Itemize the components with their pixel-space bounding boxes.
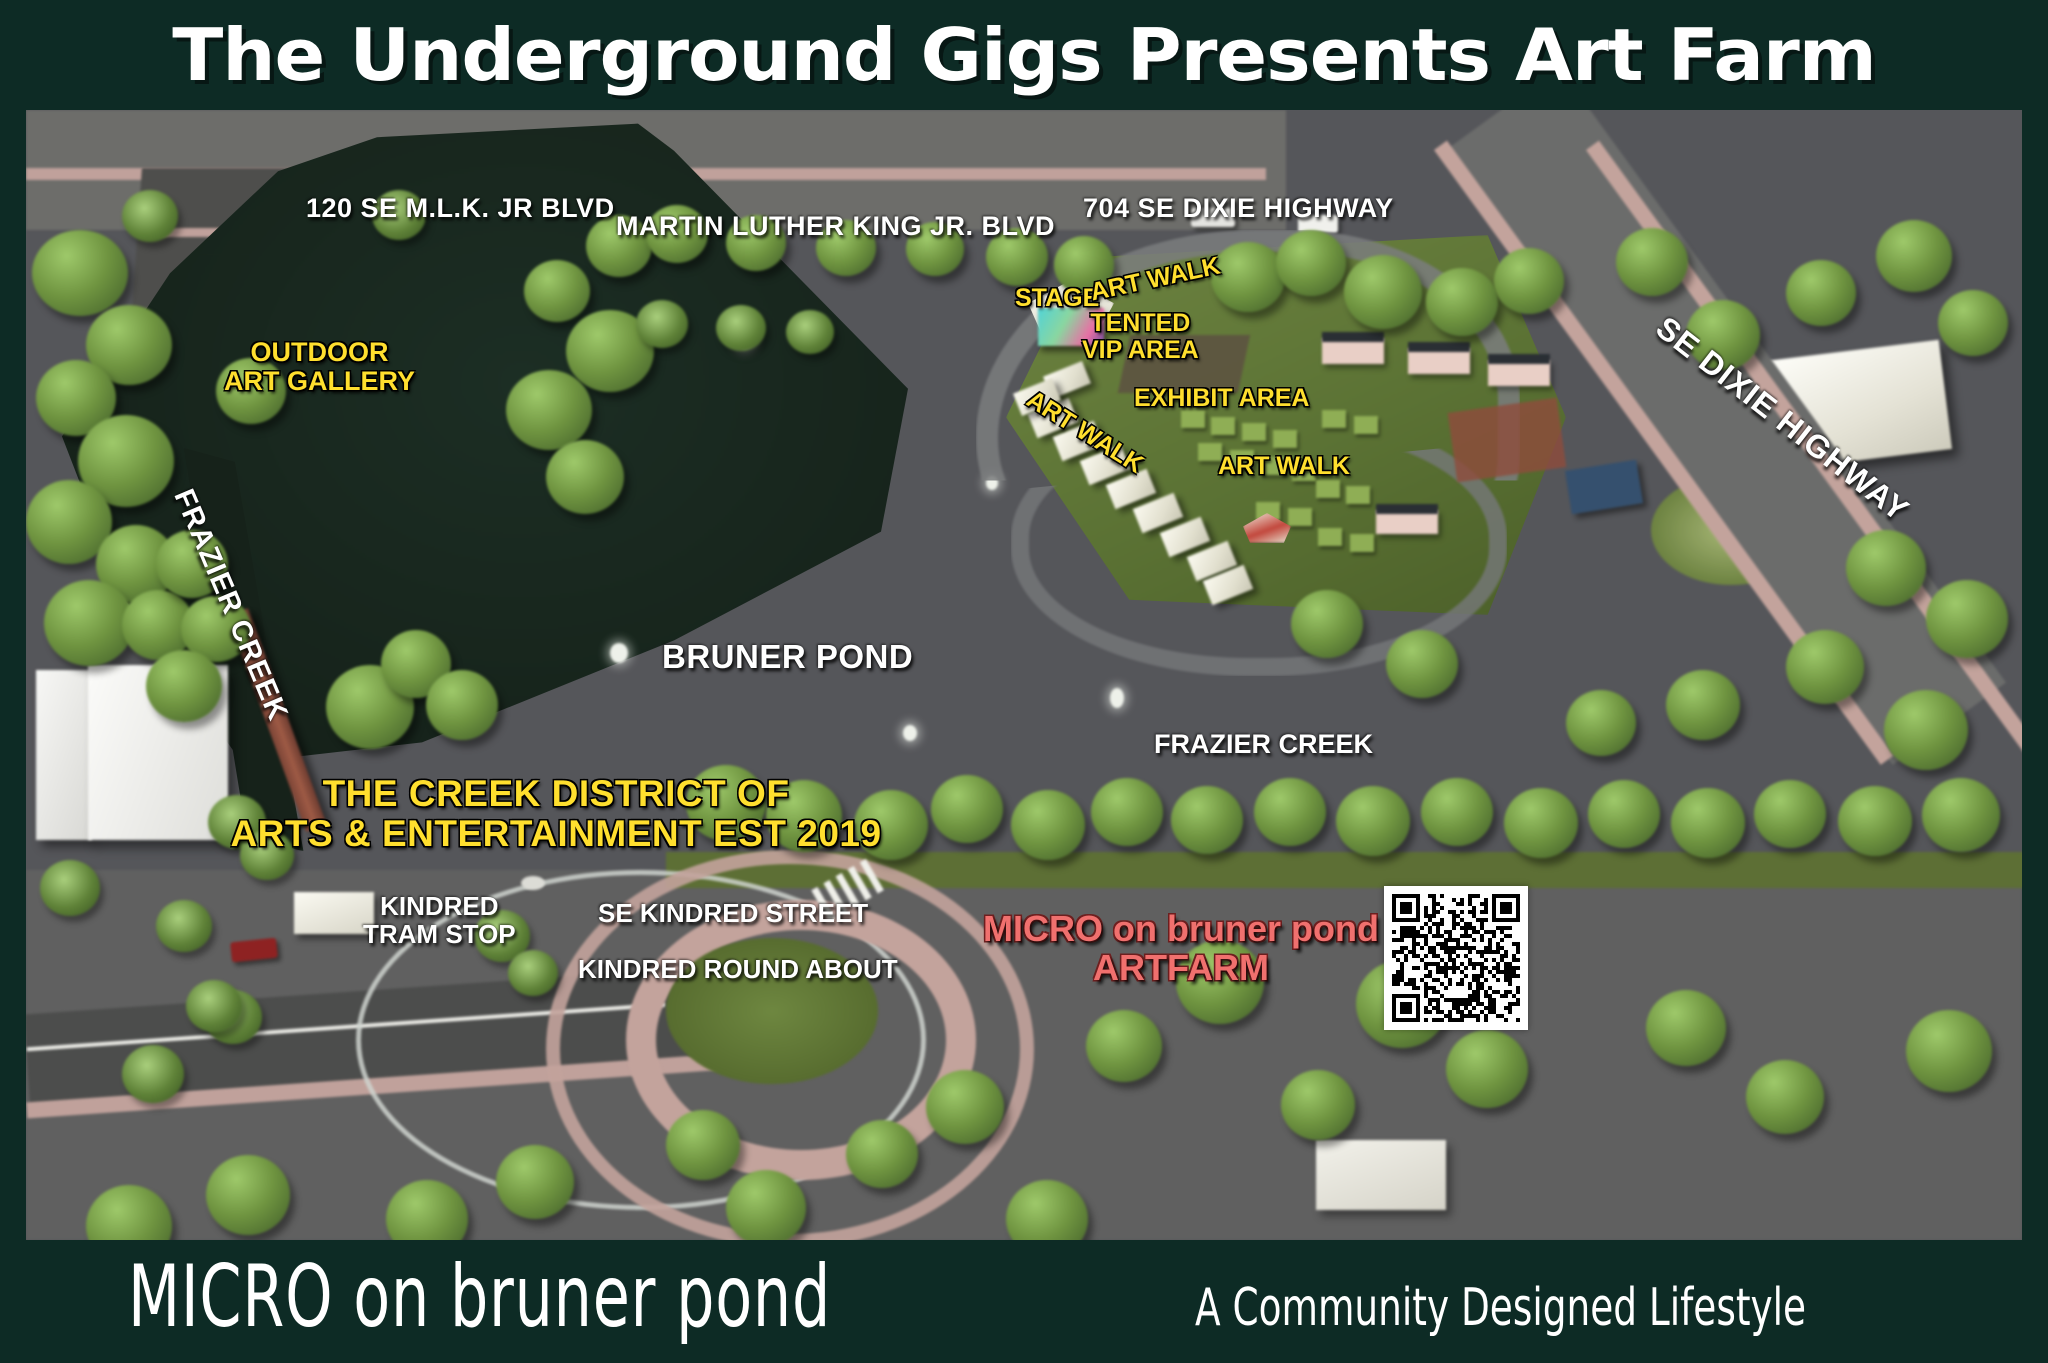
tree	[726, 1170, 806, 1240]
street-lamp	[521, 876, 545, 890]
vendor-booth-roof	[1488, 354, 1550, 364]
tree	[506, 370, 592, 450]
exhibit-stall	[1350, 534, 1374, 552]
palm-tree	[156, 900, 212, 952]
page-title: The Underground Gigs Presents Art Farm	[172, 19, 1875, 91]
map-label-se-kindred-street: SE KINDRED STREET	[598, 899, 868, 927]
tree	[1754, 780, 1826, 848]
qr-code[interactable]	[1384, 886, 1528, 1030]
tree	[846, 1120, 918, 1188]
tree	[524, 260, 590, 322]
fountain	[610, 643, 628, 663]
map-label-creek-district: THE CREEK DISTRICT OF ARTS & ENTERTAINME…	[230, 774, 881, 854]
tree	[1276, 230, 1346, 296]
tree	[1086, 1010, 1162, 1082]
map-label-tented-vip-area: TENTED VIP AREA	[1082, 310, 1199, 364]
poster-root: The Underground Gigs Presents Art Farm	[0, 0, 2048, 1363]
poster-header: The Underground Gigs Presents Art Farm	[0, 0, 2048, 110]
poster-footer: MICRO on bruner pond A Community Designe…	[0, 1240, 2048, 1363]
tree	[206, 1155, 290, 1235]
map-label-art-walk-low: ART WALK	[1218, 453, 1350, 480]
palm-tree	[122, 190, 178, 242]
tree	[1171, 786, 1243, 854]
palm-tree	[40, 860, 100, 916]
map-label-bruner-pond: BRUNER POND	[662, 639, 913, 675]
tree	[44, 580, 134, 666]
tree	[1254, 778, 1326, 846]
exhibit-stall	[1316, 480, 1340, 498]
brand-wordmark: MICRO on bruner pond	[128, 1254, 831, 1340]
exhibit-stall	[1322, 410, 1346, 428]
tree	[1922, 778, 2000, 852]
vendor-booth-roof	[1376, 504, 1438, 514]
tree	[1666, 670, 1740, 740]
qr-code-canvas	[1392, 894, 1520, 1022]
palm-tree	[716, 305, 766, 351]
aerial-site-map: 120 SE M.L.K. JR BLVD MARTIN LUTHER KING…	[26, 110, 2022, 1240]
tree	[931, 775, 1003, 843]
tree	[1504, 788, 1578, 858]
palm-tree	[122, 1045, 184, 1103]
exhibit-stall	[1346, 486, 1370, 504]
map-label-kindred-round-about: KINDRED ROUND ABOUT	[578, 955, 898, 983]
vendor-booth-roof	[1322, 332, 1384, 342]
tree	[1091, 778, 1163, 846]
tree	[426, 670, 498, 740]
exhibit-stall	[1273, 430, 1297, 448]
map-label-micro-artfarm: MICRO on bruner pond ARTFARM	[983, 910, 1379, 988]
tree	[1906, 1010, 1992, 1092]
palm-tree	[186, 980, 242, 1032]
tree	[1566, 690, 1636, 756]
exhibit-stall	[1181, 410, 1205, 428]
fountain	[903, 725, 917, 741]
building-left-a	[36, 670, 92, 840]
tree	[146, 650, 222, 722]
tree	[926, 1070, 1004, 1144]
fountain	[1110, 688, 1124, 708]
vendor-booth-roof	[1408, 342, 1470, 352]
map-label-outdoor-art-gallery: OUTDOOR ART GALLERY	[224, 338, 415, 396]
palm-tree	[636, 300, 688, 348]
palm-tree	[508, 950, 558, 996]
brand-tagline: A Community Designed Lifestyle	[1195, 1282, 1806, 1334]
tree	[1786, 260, 1856, 326]
tree	[1846, 530, 1926, 606]
map-label-stage: STAGE	[1015, 285, 1099, 312]
building-bottom-right	[1316, 1140, 1446, 1210]
tree	[1746, 1060, 1824, 1134]
map-label-kindred-tram-stop: KINDRED TRAM STOP	[363, 892, 516, 948]
map-label-frazier-creek-right: FRAZIER CREEK	[1154, 730, 1373, 759]
tree	[496, 1145, 574, 1219]
exhibit-stall	[1354, 416, 1378, 434]
kindred-tram-stop-shelter	[294, 892, 374, 934]
tree	[1344, 255, 1422, 329]
tree	[1671, 788, 1745, 858]
tree	[1446, 1030, 1528, 1108]
tree	[666, 1110, 740, 1180]
tree	[1426, 268, 1498, 336]
tree	[1588, 780, 1660, 848]
tree	[1281, 1070, 1355, 1140]
tree	[1616, 228, 1688, 296]
tree	[1884, 690, 1968, 770]
map-label-addr-mlk: 120 SE M.L.K. JR BLVD	[306, 194, 615, 223]
exhibit-stall	[1211, 417, 1235, 435]
tree	[1494, 248, 1564, 314]
tree	[1926, 580, 2008, 658]
tree	[1291, 590, 1363, 658]
exhibit-stall	[1318, 528, 1342, 546]
tree	[1421, 778, 1493, 846]
tree	[32, 230, 128, 316]
tree	[1838, 786, 1912, 856]
tree	[1646, 990, 1726, 1066]
palm-tree	[786, 310, 834, 354]
tree	[1011, 790, 1085, 860]
tree	[546, 440, 624, 514]
tree	[1876, 220, 1952, 292]
tree	[1336, 786, 1410, 856]
exhibit-stall	[1242, 423, 1266, 441]
tree	[1386, 630, 1458, 698]
map-label-mlk-blvd: MARTIN LUTHER KING JR. BLVD	[616, 212, 1055, 241]
tree	[1938, 290, 2008, 356]
map-label-addr-dixie: 704 SE DIXIE HIGHWAY	[1083, 194, 1394, 223]
map-label-exhibit-area: EXHIBIT AREA	[1134, 385, 1309, 412]
tree	[1786, 630, 1864, 704]
exhibit-stall	[1288, 508, 1312, 526]
